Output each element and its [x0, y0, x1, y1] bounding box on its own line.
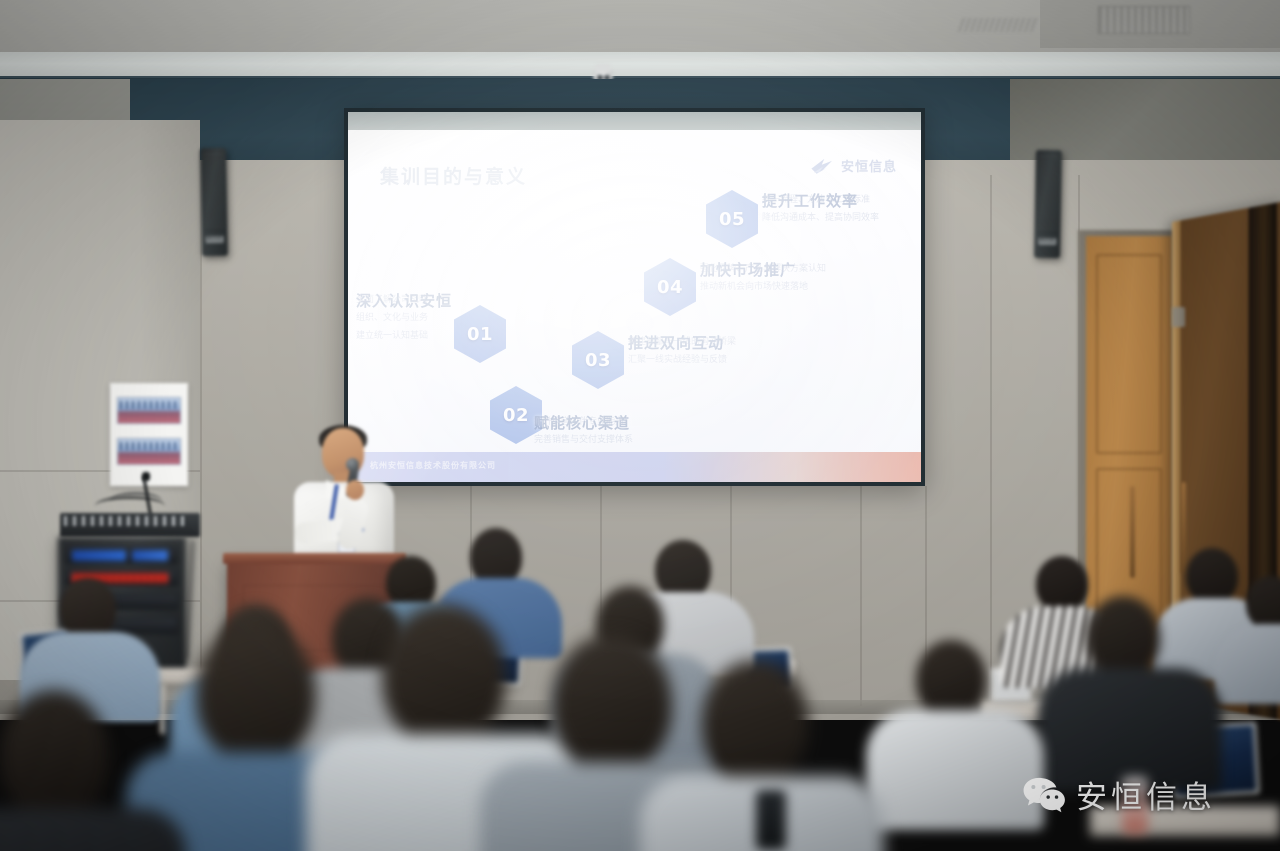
slide-logo-text: 安恒信息 — [841, 156, 897, 175]
gooseneck-mic-capsule — [142, 472, 150, 481]
microphone-capsule — [346, 458, 359, 471]
hex-badge-04: 04 — [644, 258, 696, 316]
hex-number: 04 — [657, 277, 683, 298]
item-text-02: 赋能核心渠道 提升渠道伙伴专业能力 完善销售与交付支撑体系 — [534, 412, 633, 448]
speaker-brand-label: BOSE — [206, 236, 224, 243]
item-sub-2: 完善销售与交付支撑体系 — [534, 434, 633, 448]
projection-screen-top-bar — [348, 112, 921, 132]
item-text-01: 深入认识安恒 全面了解公司战略 组织、文化与业务 建立统一认知基础 — [356, 290, 428, 344]
item-sub-2: 降低沟通成本、提高协同效率 — [762, 212, 879, 226]
bose-speaker-left: BOSE — [200, 148, 228, 256]
item-text-05: 提升工作效率 统一流程、方法与工具标准 降低沟通成本、提高协同效率 — [762, 190, 879, 226]
speaker-brand-label: BOSE — [1038, 238, 1056, 245]
item-sub-2: 组织、文化与业务 — [356, 312, 428, 326]
hex-badge-01: 01 — [454, 305, 506, 363]
wall-seam — [990, 175, 992, 705]
wechat-watermark: 安恒信息 — [1022, 772, 1216, 817]
hex-number: 02 — [503, 405, 529, 426]
rack-display-blue — [72, 550, 126, 561]
bag — [756, 790, 786, 850]
hex-badge-05: 05 — [706, 190, 758, 248]
item-sub-3: 建立统一认知基础 — [356, 330, 428, 344]
mixer-fader-row — [64, 516, 184, 526]
desk-leg — [160, 684, 165, 734]
item-text-04: 加快市场推广 强化品牌、产品与解决方案认知 推动新机会向市场快速落地 — [700, 259, 826, 295]
item-sub-1: 统一流程、方法与工具标准 — [762, 194, 879, 208]
watermark-account-name: 安恒信息 — [1076, 772, 1216, 817]
item-sub-1: 强化品牌、产品与解决方案认知 — [700, 263, 826, 277]
slide-title: 集训目的与意义 — [380, 162, 527, 189]
wechat-icon — [1022, 776, 1066, 814]
presenter-hand — [346, 480, 364, 500]
item-sub-2: 汇聚一线实战经验与反馈 — [628, 354, 736, 368]
bird-logo-icon — [810, 157, 836, 175]
item-text-03: 推进双向互动 搭建总部与一线的沟通桥梁 汇聚一线实战经验与反馈 — [628, 332, 736, 368]
door-lock-icon — [1172, 307, 1185, 327]
hex-number: 01 — [467, 324, 493, 345]
item-sub-1: 全面了解公司战略 — [356, 294, 428, 308]
door-handle[interactable] — [1181, 482, 1186, 574]
ceiling-vent-icon — [1098, 6, 1190, 34]
photo-scene: BOSE BOSE 集训目的与意义 安恒信息 01 — [0, 0, 1280, 851]
hex-badge-03: 03 — [572, 331, 624, 389]
ceiling-vent-secondary-icon — [958, 18, 1041, 32]
speaker-grille — [1038, 156, 1059, 232]
audio-cable — [110, 492, 162, 510]
hex-number: 05 — [719, 209, 745, 230]
item-sub-2: 推动新机会向市场快速落地 — [700, 281, 826, 295]
door-handle[interactable] — [1130, 486, 1135, 578]
wall-seam — [860, 486, 862, 706]
hex-number: 03 — [585, 350, 611, 371]
speaker-grille — [203, 154, 224, 230]
wall-poster — [110, 383, 188, 486]
projection-screen: 集训目的与意义 安恒信息 01 深入认识安恒 全面了解公司战略 组织、文化与业务… — [348, 130, 921, 482]
slide-footer-bar: 杭州安恒信息技术股份有限公司 — [348, 452, 921, 482]
bose-speaker-right: BOSE — [1034, 150, 1062, 258]
rack-display-blue-2 — [132, 550, 168, 561]
item-sub-1: 提升渠道伙伴专业能力 — [534, 416, 633, 430]
item-sub-1: 搭建总部与一线的沟通桥梁 — [628, 336, 736, 350]
ceiling-slab — [0, 52, 1280, 78]
slide-logo: 安恒信息 — [810, 156, 897, 175]
